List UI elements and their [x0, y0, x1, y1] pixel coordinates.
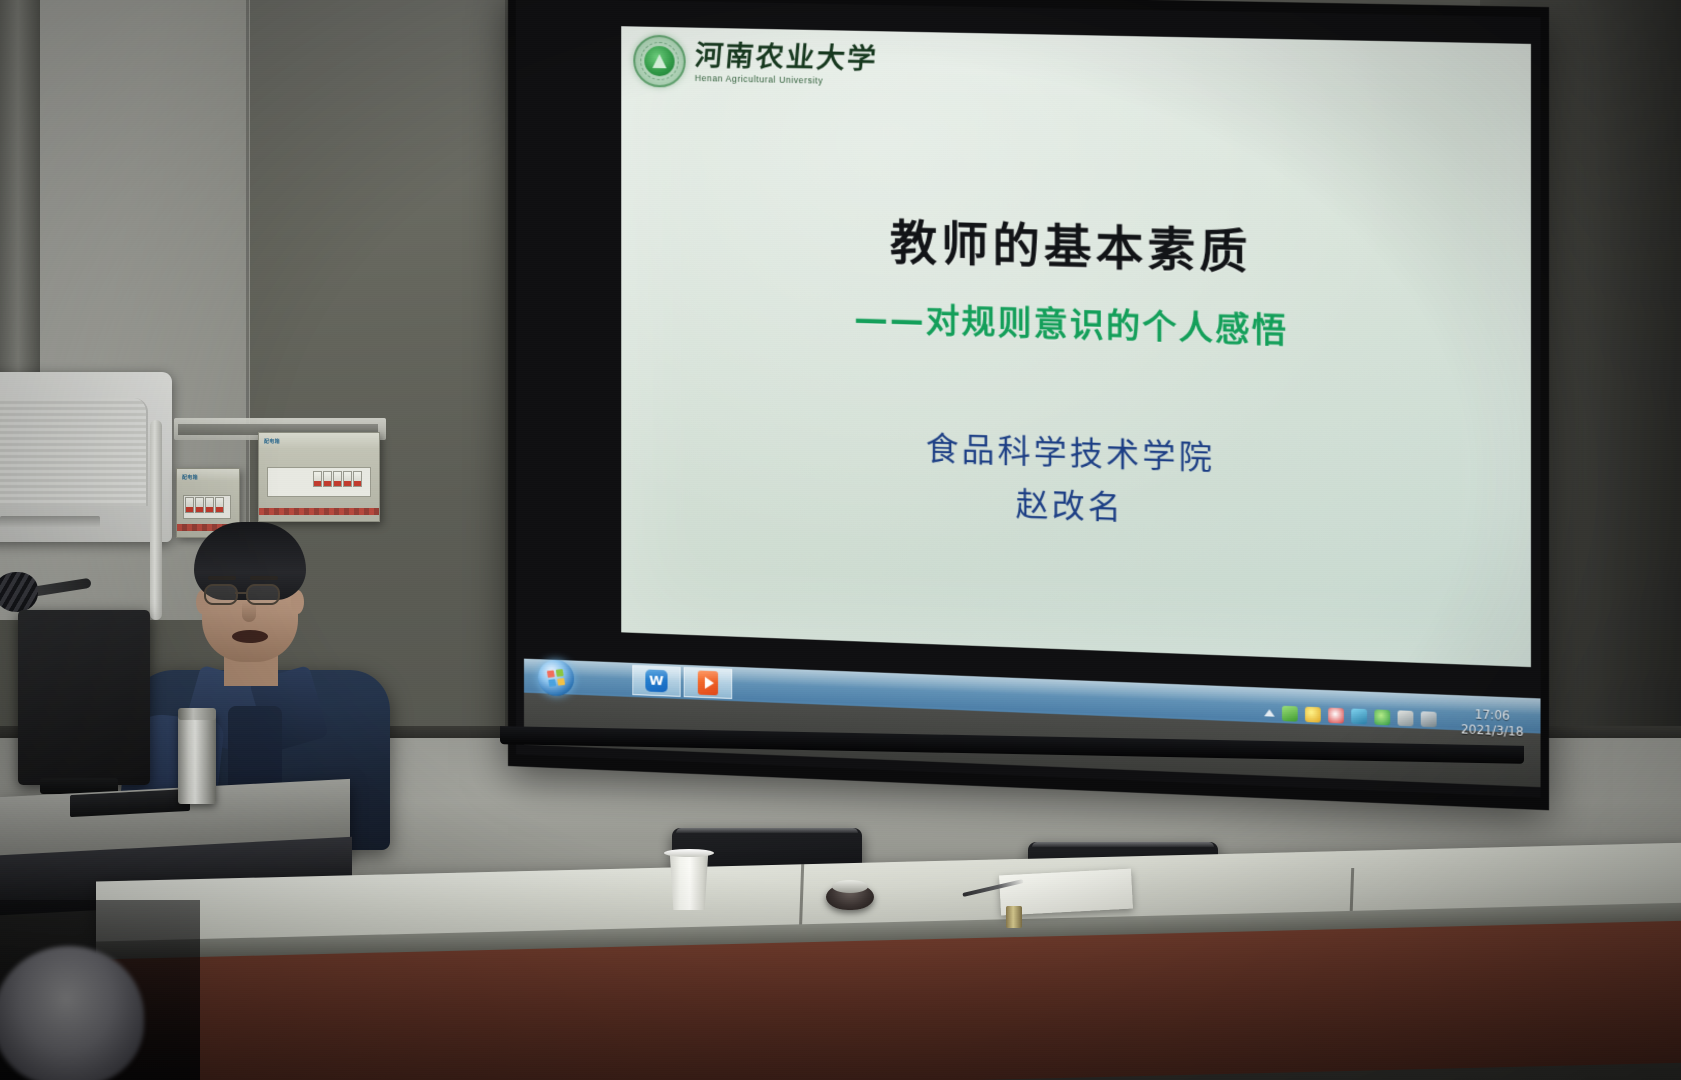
breaker-row — [185, 497, 224, 513]
seated-person-head — [0, 946, 144, 1080]
university-seal-icon — [633, 34, 685, 87]
windows-start-orb-icon[interactable] — [538, 659, 574, 696]
player-icon[interactable] — [1374, 709, 1390, 725]
clock-date: 2021/3/18 — [1461, 722, 1524, 739]
taskbar-clock[interactable]: 17:06 2021/3/18 — [1461, 707, 1524, 739]
vacuum-flask — [178, 712, 216, 804]
breaker-switch — [205, 497, 214, 513]
ac-grill — [0, 398, 148, 506]
network-icon[interactable] — [1351, 708, 1367, 724]
breaker-switch — [215, 497, 224, 513]
distribution-box-large: 配电箱 — [258, 432, 380, 522]
windows-flag-icon — [547, 669, 565, 687]
breaker-switch — [185, 497, 194, 513]
breaker-switch — [313, 471, 322, 487]
paper-cup-rim — [664, 849, 714, 857]
presenter-mouth — [232, 630, 268, 643]
desktop-monitor — [18, 610, 150, 785]
seal-emblem-icon — [644, 46, 674, 77]
presentation-slide: 河南农业大学 Henan Agricultural University 教师的… — [621, 26, 1531, 667]
panel-warning-stripe — [259, 508, 379, 515]
eyeglass-bridge — [235, 592, 247, 594]
ac-vent — [0, 516, 100, 528]
vacuum-flask-cap — [178, 708, 216, 720]
breaker-row — [313, 471, 362, 487]
volume-icon[interactable] — [1421, 711, 1437, 727]
panel-brand-label: 配电箱 — [182, 474, 198, 481]
presenter-nose — [242, 602, 256, 622]
printer-icon[interactable] — [1398, 710, 1414, 726]
breaker-switch — [333, 471, 342, 487]
logo-text-block: 河南农业大学 Henan Agricultural University — [695, 41, 878, 86]
presenter-brow-left — [208, 576, 236, 580]
wall-pillar — [0, 0, 40, 380]
shield-icon[interactable] — [1305, 707, 1321, 723]
projection-screen-surface: 河南农业大学 Henan Agricultural University 教师的… — [516, 0, 1541, 798]
breaker-switch — [343, 471, 352, 487]
small-jar — [1006, 906, 1022, 928]
lecture-hall-photo: 配电箱 配电箱 — [0, 0, 1681, 1080]
university-name-cn: 河南农业大学 — [694, 41, 879, 73]
breaker-switch — [323, 471, 332, 487]
breaker-switch — [353, 471, 362, 487]
panel-brand-label: 配电箱 — [264, 438, 280, 445]
eyeglass-lens-left — [204, 584, 238, 605]
chair-top-rail — [1032, 842, 1214, 847]
breaker-switch — [195, 497, 204, 513]
paper-cup — [666, 852, 712, 910]
round-puck-top — [832, 880, 868, 893]
presenter-brow-right — [250, 576, 278, 580]
projection-screen: 河南农业大学 Henan Agricultural University 教师的… — [508, 0, 1549, 810]
microphone-head — [0, 572, 38, 612]
chair-top-rail — [676, 828, 858, 833]
university-logo: 河南农业大学 Henan Agricultural University — [633, 34, 877, 91]
chevron-up-icon[interactable] — [1264, 709, 1274, 717]
battery-icon[interactable] — [1282, 706, 1298, 722]
air-conditioner-unit — [0, 372, 172, 542]
antivirus-icon[interactable] — [1328, 708, 1344, 724]
